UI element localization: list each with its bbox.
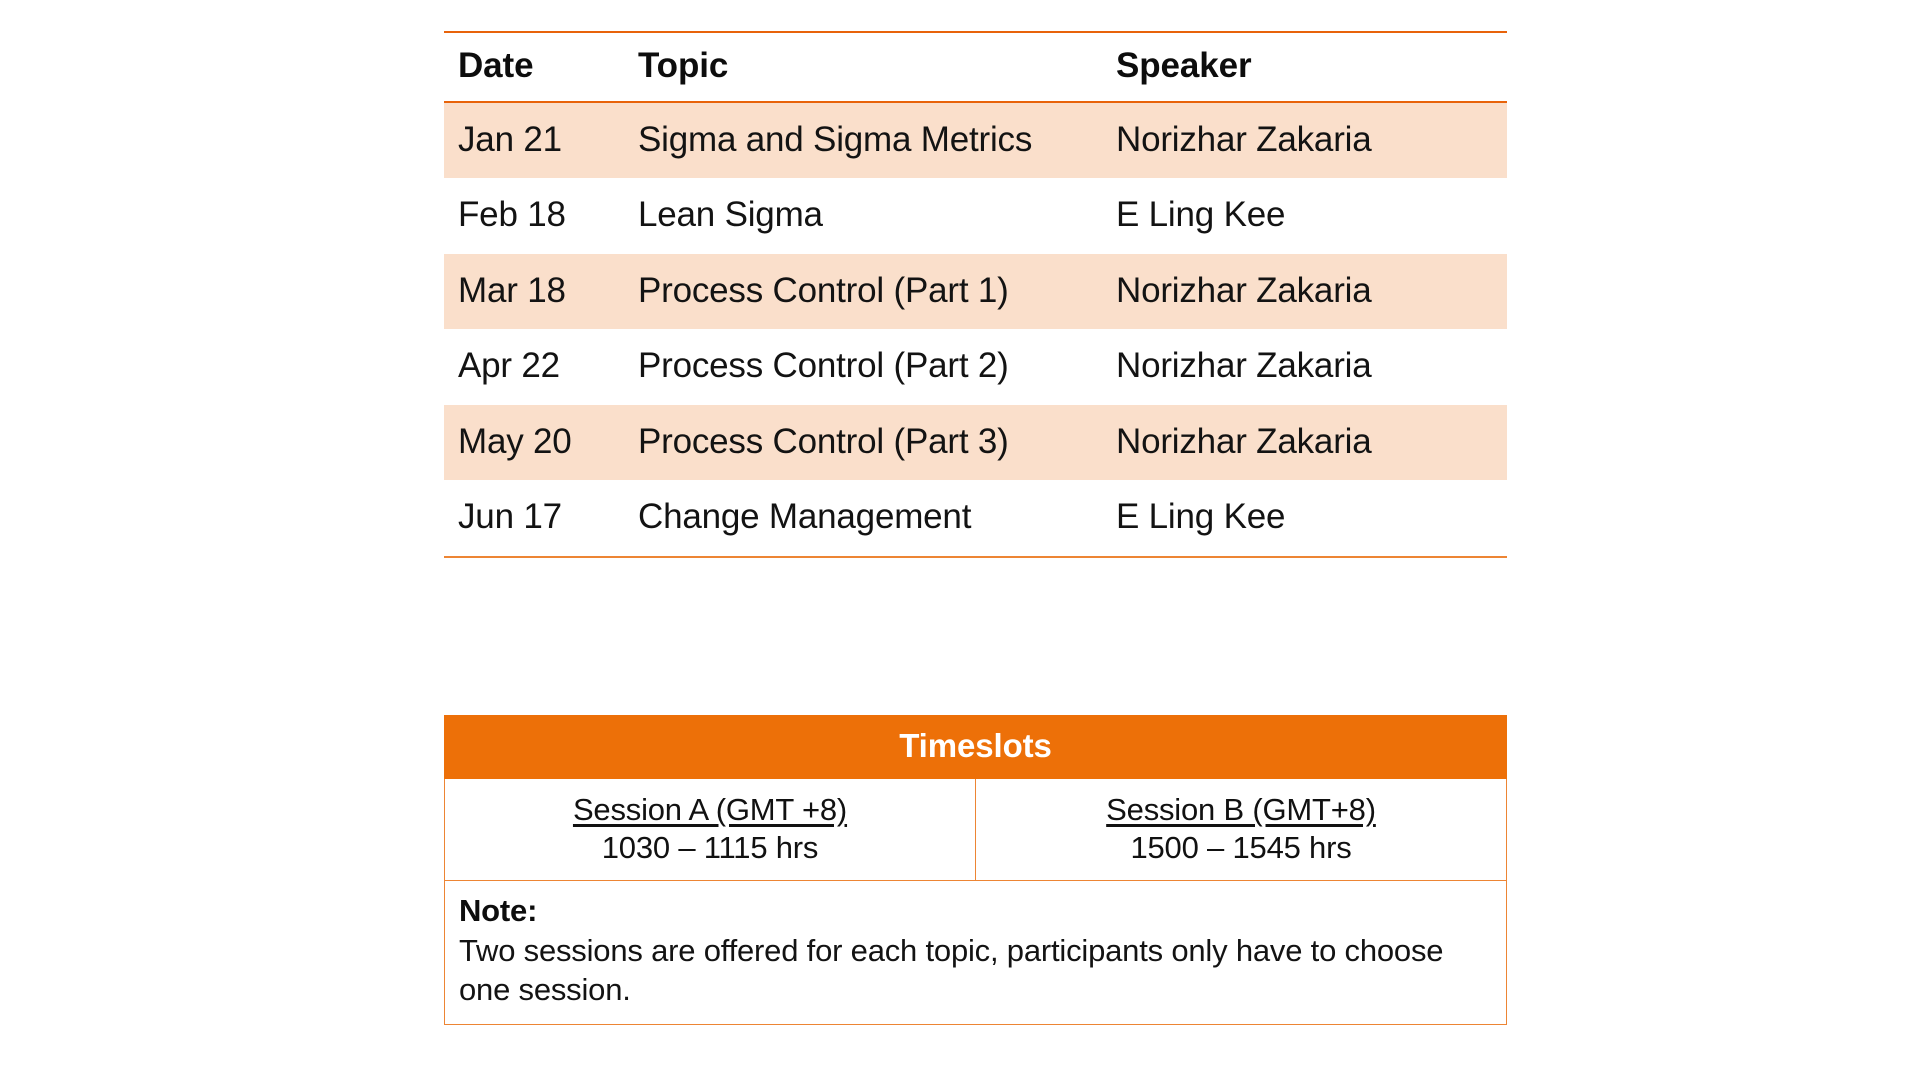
schedule-table: Date Topic Speaker Jan 21 Sigma and Sigm… [444, 31, 1507, 558]
cell-date: Mar 18 [444, 254, 624, 330]
session-b-cell: Session B (GMT+8) 1500 – 1545 hrs [976, 779, 1507, 881]
cell-speaker: Norizhar Zakaria [1102, 254, 1507, 330]
cell-speaker: Norizhar Zakaria [1102, 102, 1507, 179]
note-text: Two sessions are offered for each topic,… [459, 931, 1479, 1010]
schedule-table-head: Date Topic Speaker [444, 32, 1507, 102]
cell-date: Feb 18 [444, 178, 624, 254]
table-row: May 20 Process Control (Part 3) Norizhar… [444, 405, 1507, 481]
cell-topic: Process Control (Part 1) [624, 254, 1102, 330]
schedule-header-row: Date Topic Speaker [444, 32, 1507, 102]
session-a-time: 1030 – 1115 hrs [445, 829, 975, 866]
cell-speaker: Norizhar Zakaria [1102, 329, 1507, 405]
cell-topic: Change Management [624, 480, 1102, 557]
cell-topic: Process Control (Part 2) [624, 329, 1102, 405]
cell-topic: Lean Sigma [624, 178, 1102, 254]
table-row: Jun 17 Change Management E Ling Kee [444, 480, 1507, 557]
timeslots-table: Timeslots Session A (GMT +8) 1030 – 1115… [444, 715, 1507, 1025]
timeslots-session-row: Session A (GMT +8) 1030 – 1115 hrs Sessi… [445, 779, 1507, 881]
cell-speaker: Norizhar Zakaria [1102, 405, 1507, 481]
table-row: Apr 22 Process Control (Part 2) Norizhar… [444, 329, 1507, 405]
session-b-time: 1500 – 1545 hrs [976, 829, 1506, 866]
note-label: Note: [459, 891, 1506, 931]
cell-topic: Process Control (Part 3) [624, 405, 1102, 481]
session-a-title: Session A (GMT +8) [445, 791, 975, 829]
table-row: Mar 18 Process Control (Part 1) Norizhar… [444, 254, 1507, 330]
cell-date: Apr 22 [444, 329, 624, 405]
schedule-table-body: Jan 21 Sigma and Sigma Metrics Norizhar … [444, 102, 1507, 557]
cell-date: Jan 21 [444, 102, 624, 179]
cell-date: May 20 [444, 405, 624, 481]
timeslots-header-row: Timeslots [445, 716, 1507, 779]
column-header-speaker: Speaker [1102, 32, 1507, 102]
cell-topic: Sigma and Sigma Metrics [624, 102, 1102, 179]
session-a-cell: Session A (GMT +8) 1030 – 1115 hrs [445, 779, 976, 881]
timeslots-note-row: Note: Two sessions are offered for each … [445, 881, 1507, 1025]
timeslots-title: Timeslots [445, 716, 1507, 779]
cell-speaker: E Ling Kee [1102, 480, 1507, 557]
table-row: Feb 18 Lean Sigma E Ling Kee [444, 178, 1507, 254]
cell-speaker: E Ling Kee [1102, 178, 1507, 254]
column-header-date: Date [444, 32, 624, 102]
cell-date: Jun 17 [444, 480, 624, 557]
table-row: Jan 21 Sigma and Sigma Metrics Norizhar … [444, 102, 1507, 179]
session-b-title: Session B (GMT+8) [976, 791, 1506, 829]
column-header-topic: Topic [624, 32, 1102, 102]
note-cell: Note: Two sessions are offered for each … [445, 881, 1507, 1025]
slide-canvas: Date Topic Speaker Jan 21 Sigma and Sigm… [0, 0, 1920, 1080]
